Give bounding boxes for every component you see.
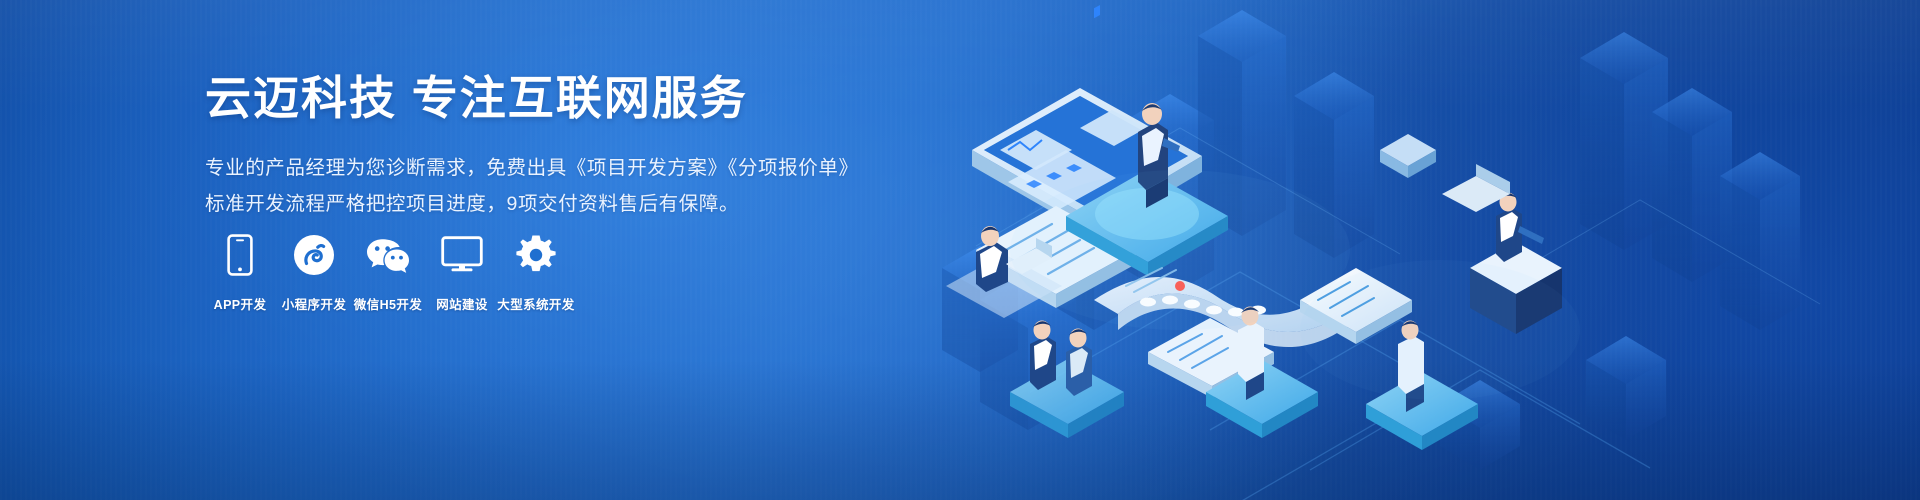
service-label: APP开发 [214, 294, 267, 313]
hero-banner: 云迈科技 专注互联网服务 专业的产品经理为您诊断需求，免费出具《项目开发方案》《… [0, 0, 1920, 500]
gear-icon [515, 232, 557, 278]
service-label: 微信H5开发 [354, 294, 422, 313]
service-list: APP开发 小程序开发 [203, 232, 573, 313]
service-item-app[interactable]: APP开发 [203, 232, 277, 313]
service-item-website[interactable]: 网站建设 [425, 232, 499, 313]
banner-copy: 云迈科技 专注互联网服务 专业的产品经理为您诊断需求，免费出具《项目开发方案》《… [205, 72, 905, 221]
isometric-tech-illustration [880, 0, 1920, 500]
service-label: 小程序开发 [282, 294, 347, 313]
subtitle-line-1: 专业的产品经理为您诊断需求，免费出具《项目开发方案》《分项报价单》 [205, 151, 905, 185]
subtitle-line-2: 标准开发流程严格把控项目进度，9项交付资料售后有保障。 [205, 187, 905, 221]
service-label: 大型系统开发 [497, 294, 574, 313]
page-title: 云迈科技 专注互联网服务 [205, 72, 905, 125]
mini-program-icon [293, 232, 335, 278]
service-item-mini-program[interactable]: 小程序开发 [277, 232, 351, 313]
mobile-phone-icon [227, 232, 253, 278]
service-label: 网站建设 [436, 294, 488, 313]
service-item-wechat-h5[interactable]: 微信H5开发 [351, 232, 425, 313]
monitor-icon [441, 232, 483, 278]
service-item-large-system[interactable]: 大型系统开发 [499, 232, 573, 313]
wechat-icon [365, 232, 411, 278]
